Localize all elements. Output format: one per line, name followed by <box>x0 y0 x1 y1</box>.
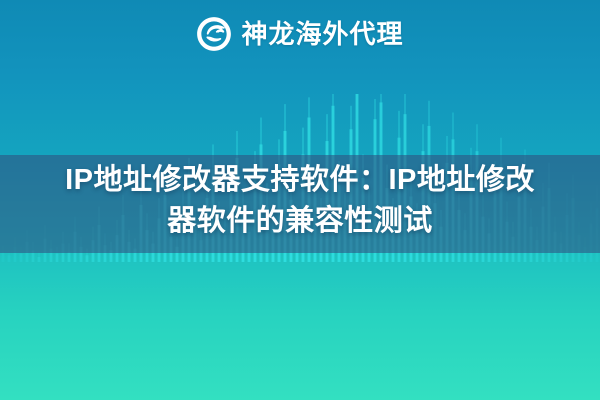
page-title-line-2: 器软件的兼容性测试 <box>0 201 600 242</box>
page-title-line-1: IP地址修改器支持软件：IP地址修改 <box>0 160 600 201</box>
brand-logo-lockup[interactable]: 神龙海外代理 <box>0 12 600 56</box>
promo-banner: 神龙海外代理 IP地址修改器支持软件：IP地址修改 器软件的兼容性测试 <box>0 0 600 400</box>
brand-wordmark: 神龙海外代理 <box>241 21 403 47</box>
dragon-swirl-circle-icon <box>196 16 232 52</box>
page-title: IP地址修改器支持软件：IP地址修改 器软件的兼容性测试 <box>0 160 600 242</box>
